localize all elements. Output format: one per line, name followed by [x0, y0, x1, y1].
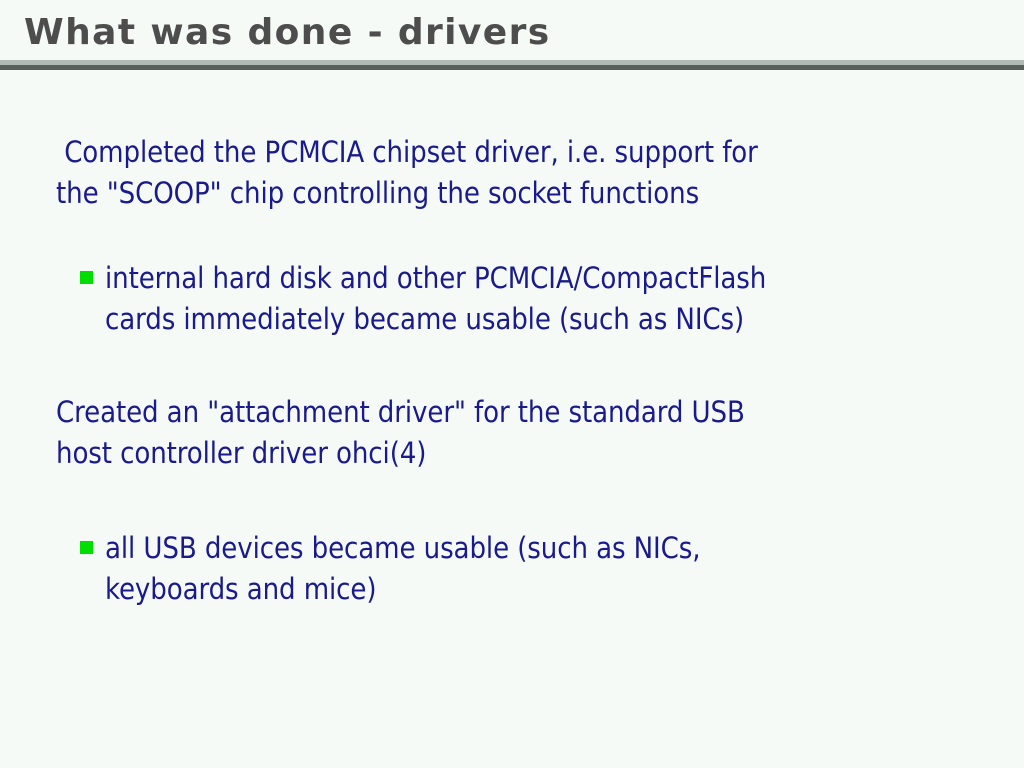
- list-item: all USB devices became usable (such as N…: [80, 528, 960, 610]
- title-divider: [0, 60, 1024, 70]
- slide-title-area: What was done - drivers: [0, 0, 1024, 62]
- slide-body: Completed the PCMCIA chipset driver, i.e…: [0, 70, 1024, 768]
- list-item-label: all USB devices became usable (such as N…: [105, 528, 960, 610]
- bullet-list-pcmcia: internal hard disk and other PCMCIA/Comp…: [80, 258, 960, 340]
- square-bullet-icon: [80, 541, 93, 554]
- bullet-list-usb: all USB devices became usable (such as N…: [80, 528, 960, 610]
- list-item: internal hard disk and other PCMCIA/Comp…: [80, 258, 960, 340]
- square-bullet-icon: [80, 271, 93, 284]
- slide: What was done - drivers Completed the PC…: [0, 0, 1024, 768]
- body-paragraph-pcmcia: Completed the PCMCIA chipset driver, i.e…: [56, 132, 956, 214]
- body-paragraph-usb: Created an "attachment driver" for the s…: [56, 392, 956, 474]
- page-title: What was done - drivers: [24, 11, 551, 55]
- list-item-label: internal hard disk and other PCMCIA/Comp…: [105, 258, 960, 340]
